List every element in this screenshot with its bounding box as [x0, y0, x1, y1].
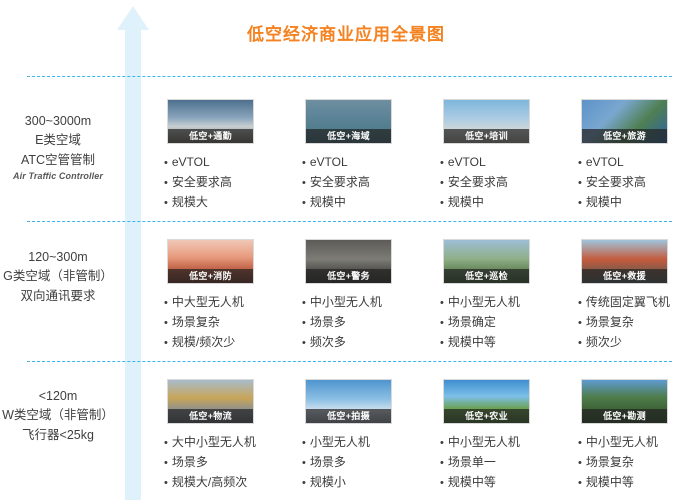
scenario-card[interactable]: 低空+旅游eVTOL安全要求高规模中: [578, 99, 692, 213]
scenario-bullet: 规模大/高频次: [164, 473, 301, 493]
scenario-bullet: 规模中: [440, 193, 577, 213]
band-airspace-class: E类空域: [2, 131, 114, 150]
band-divider-1: [27, 76, 672, 77]
scenario-thumbnail: 低空+警务: [305, 239, 392, 284]
band-control-rule: ATC空管管制: [2, 151, 114, 170]
scenario-bullet-list: eVTOL安全要求高规模中: [302, 153, 439, 213]
scenario-bullet: 规模/频次少: [164, 333, 301, 353]
scenario-bullet: 规模中等: [440, 333, 577, 353]
scenario-thumbnail: 低空+勘测: [581, 379, 668, 424]
scenario-bullet: 中小型无人机: [440, 293, 577, 313]
scenario-card[interactable]: 低空+警务中小型无人机场景多频次多: [302, 239, 439, 353]
scenario-bullet: 频次少: [578, 333, 692, 353]
scenario-thumbnail: 低空+拍摄: [305, 379, 392, 424]
band-control-rule-english: Air Traffic Controller: [2, 170, 114, 184]
scenario-bullet: 场景多: [164, 453, 301, 473]
scenario-card[interactable]: 低空+救援传统固定翼飞机场景复杂频次少: [578, 239, 692, 353]
scenario-bullet: eVTOL: [302, 153, 439, 173]
band-label-e-airspace: 300~3000m E类空域 ATC空管管制 Air Traffic Contr…: [2, 112, 114, 184]
scenario-bullet-list: 传统固定翼飞机场景复杂频次少: [578, 293, 692, 353]
scenario-card[interactable]: 低空+通勤eVTOL安全要求高规模大: [164, 99, 301, 213]
scenario-thumbnail: 低空+物流: [167, 379, 254, 424]
scenario-bullet: 中小型无人机: [302, 293, 439, 313]
scenario-bullet: 中大型无人机: [164, 293, 301, 313]
scenario-caption: 低空+海域: [306, 129, 391, 143]
scenario-bullet: 规模中: [302, 193, 439, 213]
scenario-bullet-list: eVTOL安全要求高规模中: [578, 153, 692, 213]
scenario-card[interactable]: 低空+消防中大型无人机场景复杂规模/频次少: [164, 239, 301, 353]
scenario-card[interactable]: 低空+培训eVTOL安全要求高规模中: [440, 99, 577, 213]
scenario-bullet: 中小型无人机: [578, 433, 692, 453]
scenario-bullet: eVTOL: [164, 153, 301, 173]
scenario-thumbnail: 低空+通勤: [167, 99, 254, 144]
band-airspace-class: G类空域（非管制）: [2, 267, 114, 286]
scenario-caption: 低空+培训: [444, 129, 529, 143]
scenario-caption: 低空+物流: [168, 409, 253, 423]
scenario-bullet: 场景复杂: [578, 313, 692, 333]
band-divider-2: [27, 221, 672, 222]
scenario-caption: 低空+旅游: [582, 129, 667, 143]
scenario-card[interactable]: 低空+物流大中小型无人机场景多规模大/高频次: [164, 379, 301, 493]
scenario-thumbnail: 低空+救援: [581, 239, 668, 284]
scenario-caption: 低空+警务: [306, 269, 391, 283]
scenario-bullet: 规模大: [164, 193, 301, 213]
page-title: 低空经济商业应用全景图: [0, 20, 692, 45]
scenario-caption: 低空+农业: [444, 409, 529, 423]
band-control-rule: 飞行器<25kg: [2, 426, 114, 445]
scenario-bullet: eVTOL: [440, 153, 577, 173]
scenario-thumbnail: 低空+消防: [167, 239, 254, 284]
scenario-card[interactable]: 低空+拍摄小型无人机场景多规模小: [302, 379, 439, 493]
band-row-w-airspace: 低空+物流大中小型无人机场景多规模大/高频次低空+拍摄小型无人机场景多规模小低空…: [164, 379, 692, 499]
scenario-card[interactable]: 低空+农业中小型无人机场景单一规模中等: [440, 379, 577, 493]
scenario-thumbnail: 低空+旅游: [581, 99, 668, 144]
scenario-caption: 低空+拍摄: [306, 409, 391, 423]
scenario-thumbnail: 低空+海域: [305, 99, 392, 144]
scenario-bullet: 规模中: [578, 193, 692, 213]
scenario-bullet: 传统固定翼飞机: [578, 293, 692, 313]
scenario-bullet-list: eVTOL安全要求高规模中: [440, 153, 577, 213]
band-control-rule: 双向通讯要求: [2, 287, 114, 306]
scenario-bullet-list: 中小型无人机场景多频次多: [302, 293, 439, 353]
band-label-g-airspace: 120~300m G类空域（非管制） 双向通讯要求: [2, 248, 114, 306]
band-airspace-class: W类空域（非管制）: [2, 406, 114, 425]
band-altitude-range: 120~300m: [2, 248, 114, 267]
scenario-bullet: 安全要求高: [302, 173, 439, 193]
scenario-card[interactable]: 低空+海域eVTOL安全要求高规模中: [302, 99, 439, 213]
scenario-bullet: 场景多: [302, 453, 439, 473]
scenario-bullet-list: 中小型无人机场景单一规模中等: [440, 433, 577, 493]
scenario-caption: 低空+通勤: [168, 129, 253, 143]
scenario-bullet: 规模中等: [440, 473, 577, 493]
scenario-bullet-list: 中大型无人机场景复杂规模/频次少: [164, 293, 301, 353]
band-label-w-airspace: <120m W类空域（非管制） 飞行器<25kg: [2, 387, 114, 445]
altitude-up-arrow-icon: [116, 4, 150, 500]
scenario-bullet: 规模中等: [578, 473, 692, 493]
band-row-e-airspace: 低空+通勤eVTOL安全要求高规模大低空+海域eVTOL安全要求高规模中低空+培…: [164, 99, 692, 219]
scenario-caption: 低空+巡检: [444, 269, 529, 283]
scenario-bullet: 安全要求高: [440, 173, 577, 193]
band-altitude-range: 300~3000m: [2, 112, 114, 131]
scenario-thumbnail: 低空+农业: [443, 379, 530, 424]
scenario-bullet: 场景复杂: [164, 313, 301, 333]
scenario-bullet: 大中小型无人机: [164, 433, 301, 453]
scenario-bullet: 频次多: [302, 333, 439, 353]
scenario-bullet: 场景复杂: [578, 453, 692, 473]
scenario-bullet-list: eVTOL安全要求高规模大: [164, 153, 301, 213]
scenario-bullet: 场景单一: [440, 453, 577, 473]
scenario-thumbnail: 低空+培训: [443, 99, 530, 144]
scenario-bullet-list: 中小型无人机场景复杂规模中等: [578, 433, 692, 493]
scenario-bullet: 场景确定: [440, 313, 577, 333]
scenario-bullet: 小型无人机: [302, 433, 439, 453]
scenario-card[interactable]: 低空+巡检中小型无人机场景确定规模中等: [440, 239, 577, 353]
band-divider-3: [27, 361, 672, 362]
scenario-caption: 低空+消防: [168, 269, 253, 283]
scenario-bullet: 安全要求高: [578, 173, 692, 193]
scenario-caption: 低空+勘测: [582, 409, 667, 423]
band-row-g-airspace: 低空+消防中大型无人机场景复杂规模/频次少低空+警务中小型无人机场景多频次多低空…: [164, 239, 692, 359]
band-altitude-range: <120m: [2, 387, 114, 406]
scenario-bullet: 场景多: [302, 313, 439, 333]
scenario-card[interactable]: 低空+勘测中小型无人机场景复杂规模中等: [578, 379, 692, 493]
scenario-thumbnail: 低空+巡检: [443, 239, 530, 284]
scenario-caption: 低空+救援: [582, 269, 667, 283]
scenario-bullet-list: 中小型无人机场景确定规模中等: [440, 293, 577, 353]
scenario-bullet-list: 大中小型无人机场景多规模大/高频次: [164, 433, 301, 493]
scenario-bullet: 规模小: [302, 473, 439, 493]
scenario-bullet: eVTOL: [578, 153, 692, 173]
scenario-bullet: 安全要求高: [164, 173, 301, 193]
scenario-bullet: 中小型无人机: [440, 433, 577, 453]
scenario-bullet-list: 小型无人机场景多规模小: [302, 433, 439, 493]
